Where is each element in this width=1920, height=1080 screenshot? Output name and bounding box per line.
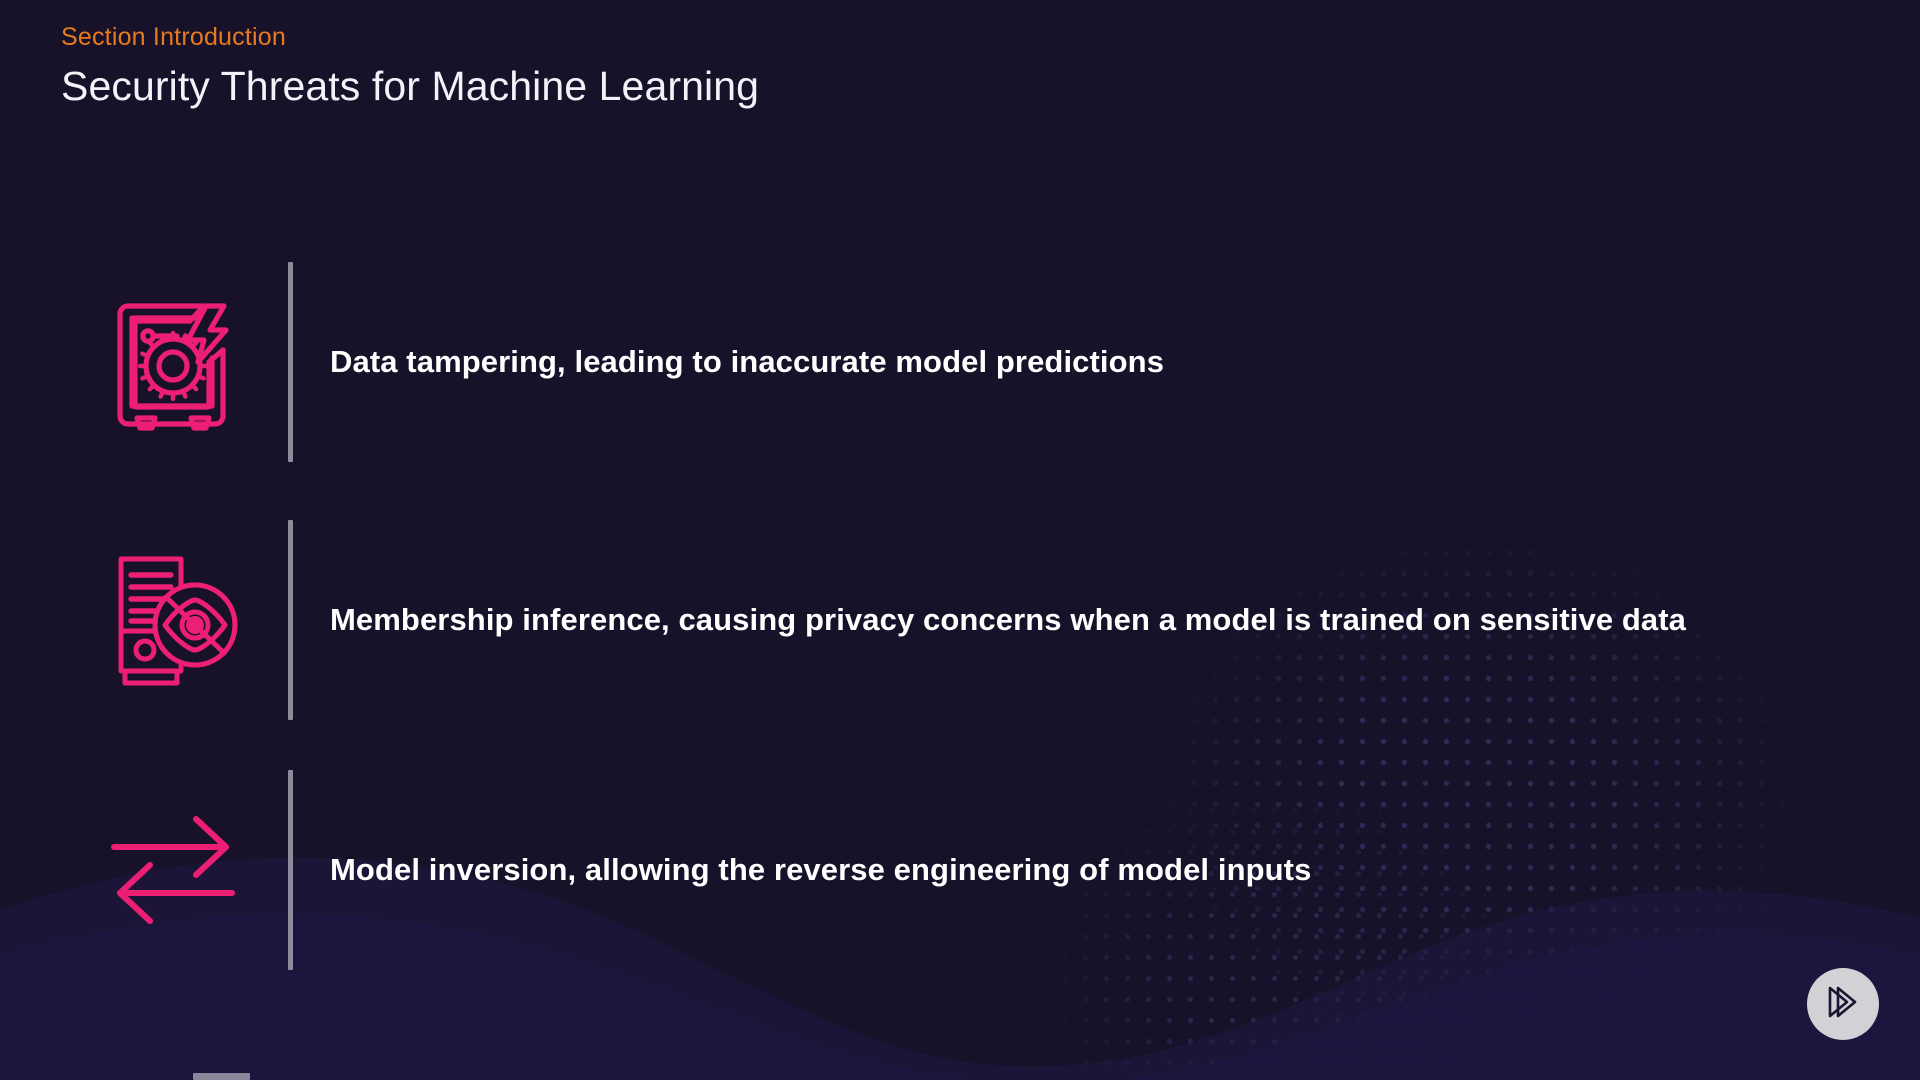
section-eyebrow-label: Section Introduction xyxy=(61,22,759,53)
bullet-text: Data tampering, leading to inaccurate mo… xyxy=(330,341,1164,383)
bullet-text: Membership inference, causing privacy co… xyxy=(330,599,1686,641)
bullet-row: Data tampering, leading to inaccurate mo… xyxy=(100,262,1840,462)
bullet-row: Membership inference, causing privacy co… xyxy=(100,520,1840,720)
playback-progress-sliver[interactable] xyxy=(193,1073,250,1080)
row-divider xyxy=(288,520,293,720)
slide-header: Section Introduction Security Threats fo… xyxy=(61,22,759,111)
page-title: Security Threats for Machine Learning xyxy=(61,62,759,111)
brand-logo-badge xyxy=(1807,968,1879,1040)
double-play-logo-icon xyxy=(1823,984,1863,1025)
presentation-slide: Section Introduction Security Threats fo… xyxy=(0,0,1920,1080)
server-no-surveillance-icon xyxy=(100,548,245,693)
row-divider xyxy=(288,262,293,462)
bullet-text: Model inversion, allowing the reverse en… xyxy=(330,849,1311,891)
bullet-row: Model inversion, allowing the reverse en… xyxy=(100,770,1840,970)
row-divider xyxy=(288,770,293,970)
safe-vault-breach-icon xyxy=(100,290,245,435)
bidirectional-arrows-icon xyxy=(100,798,245,943)
